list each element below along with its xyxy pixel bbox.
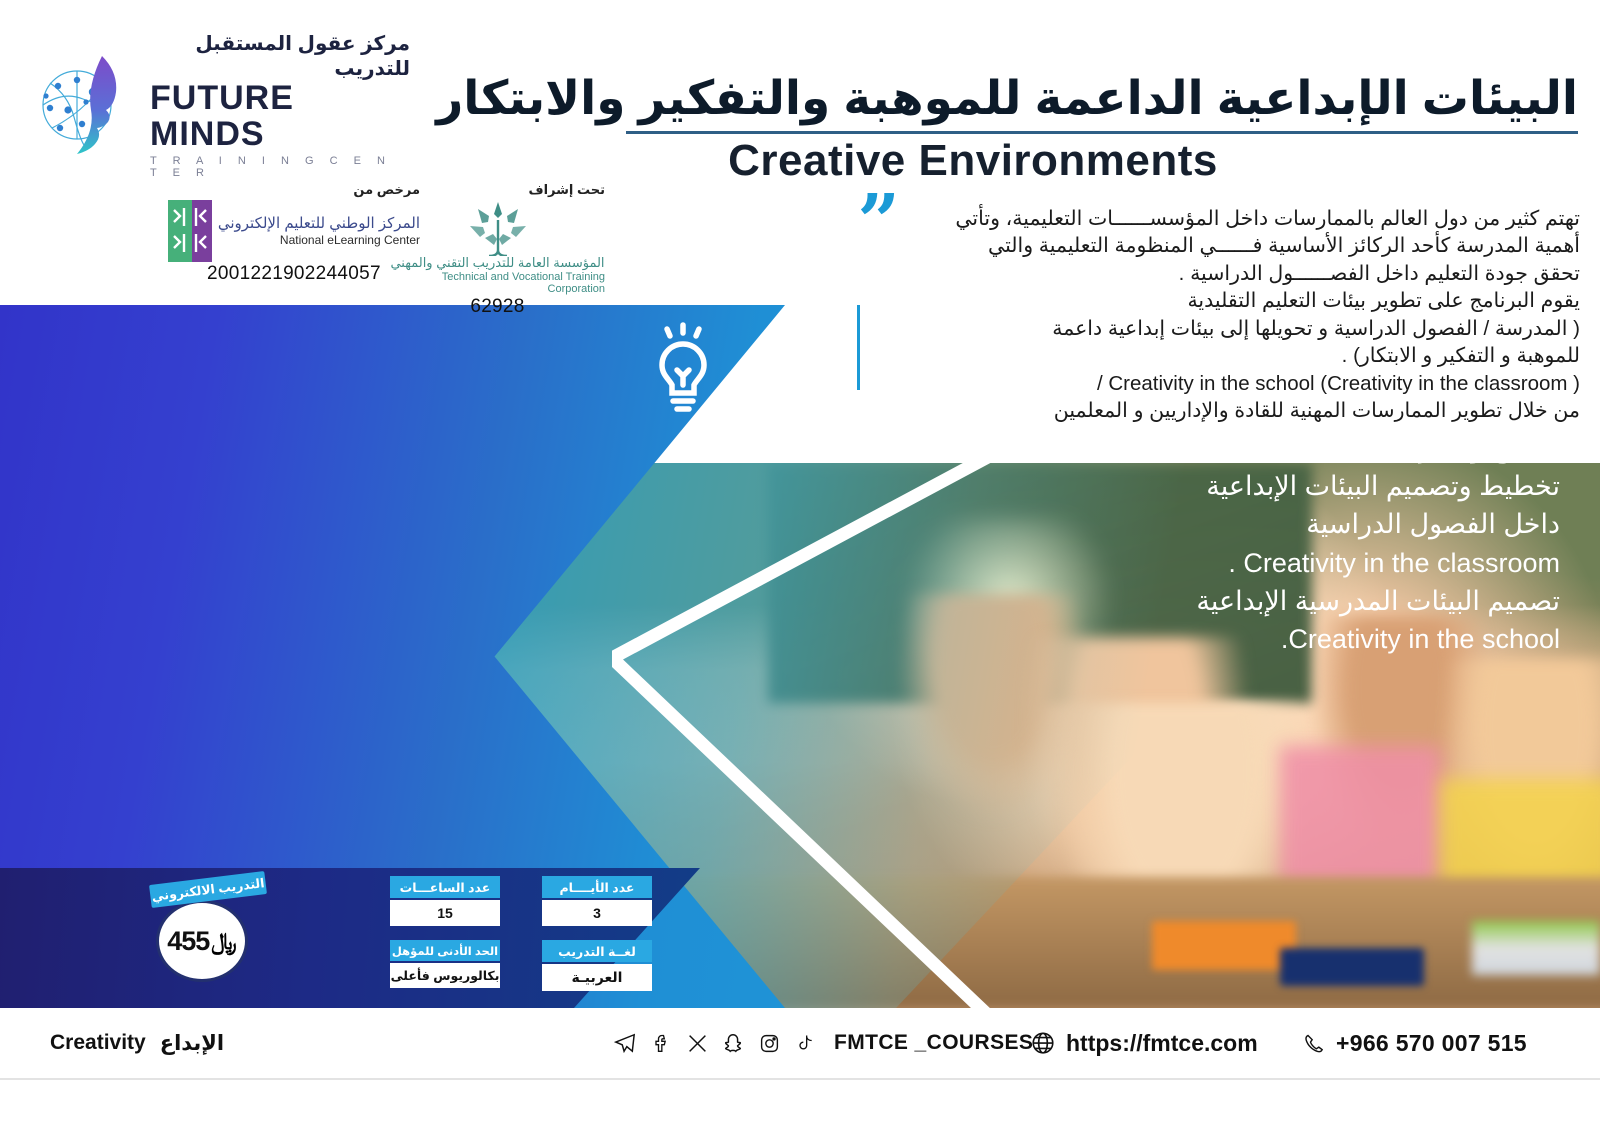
phone-icon xyxy=(1300,1030,1326,1056)
globe-icon xyxy=(1030,1030,1056,1056)
description-line-5: من خلال تطوير الممارسات المهنية للقادة و… xyxy=(940,397,1580,424)
footer-website[interactable]: https://fmtce.com xyxy=(1030,1030,1258,1057)
tvtc-name-en: Technical and Vocational Training Corpor… xyxy=(390,271,605,295)
brand-tagline: T R A I N I N G C E N T E R xyxy=(150,155,410,179)
tiktok-icon[interactable] xyxy=(792,1030,818,1056)
price-badge: ﷼ 455 التدريب الالكتروني xyxy=(148,878,268,990)
x-twitter-icon[interactable] xyxy=(684,1030,710,1056)
lightbulb-icon xyxy=(640,318,726,422)
tvtc-license-number: 62928 xyxy=(470,296,524,318)
description-line-1: يقوم البرنامج على تطوير بيئات التعليم ال… xyxy=(940,287,1580,314)
telegram-icon[interactable] xyxy=(612,1030,638,1056)
badge-hours-value: 15 xyxy=(390,900,500,926)
footer-keyword-en: Creativity xyxy=(50,1031,146,1055)
badge-language: لغــة التدريب العربيـة xyxy=(542,940,652,991)
axes-line-5: . Creativity in the classroom xyxy=(1015,544,1560,582)
badge-hours: عدد الساعـــات 15 xyxy=(390,876,500,926)
price-amount: 455 xyxy=(167,926,209,957)
bottom-strip xyxy=(0,1078,1600,1130)
axes-line-3: تخطيط وتصميم البيئات الإبداعية xyxy=(1015,467,1560,505)
description-paragraph-1: تهتم كثير من دول العالم بالممارسات داخل … xyxy=(940,205,1580,287)
quote-vertical-rule xyxy=(857,305,860,390)
footer-social: FMTCE _COURSES xyxy=(612,1030,1033,1056)
brand-wordmark: مركز عقول المستقبل للتدريب FUTURE MINDS … xyxy=(150,31,410,179)
nelc-license-number: 2001221902244057 xyxy=(207,263,381,285)
axes-line-4: داخل الفصول الدراسية xyxy=(1015,505,1560,543)
footer-keyword: Creativity الإبداع xyxy=(50,1031,224,1056)
future-minds-logo-icon xyxy=(30,50,140,160)
tvtc-logo-icon xyxy=(465,200,531,256)
axes-line-6: تصميم البيئات المدرسية الإبداعية xyxy=(1015,582,1560,620)
social-handle: FMTCE _COURSES xyxy=(834,1031,1033,1055)
badge-qualification-label: الحد الأدنى للمؤهل xyxy=(390,940,500,961)
footer-keyword-ar: الإبداع xyxy=(160,1031,224,1056)
course-info-badges: عدد الأيــــام 3 عدد الساعـــات 15 لغــة… xyxy=(332,876,652,998)
accreditation-tvtc: تحت إشراف المؤسسة العامة للتدريب التقني … xyxy=(390,182,605,318)
price-disc: ﷼ 455 xyxy=(156,900,248,982)
badge-days-value: 3 xyxy=(542,900,652,926)
badge-qualification: الحد الأدنى للمؤهل بكالوريوس فأعلى xyxy=(390,940,500,988)
course-poster: يتضمن البرنامج ثلاث محاور هي : الاتجاهات… xyxy=(0,0,1600,1130)
badge-qualification-value: بكالوريوس فأعلى xyxy=(390,963,500,988)
badge-days-label: عدد الأيــــام xyxy=(542,876,652,898)
course-title-arabic: البيئات الإبداعية الداعمة للموهبة والتفك… xyxy=(398,72,1578,125)
student-shirt xyxy=(1280,746,1440,888)
quote-mark-icon: ” xyxy=(857,200,900,244)
snapchat-icon[interactable] xyxy=(720,1030,746,1056)
phone-number: +966 570 007 515 xyxy=(1336,1030,1527,1057)
description-line-2: ( المدرسة / الفصول الدراسية و تحويلها إل… xyxy=(940,315,1580,342)
book-stack xyxy=(1472,921,1600,976)
riyal-symbol-icon: ﷼ xyxy=(211,928,236,955)
footer-phone[interactable]: +966 570 007 515 xyxy=(1300,1030,1527,1057)
accreditation-nelc: مرخص من المركز الوطني للتعليم الإلكتروني… xyxy=(168,182,420,285)
poster-footer: Creativity الإبداع FMTCE _COURSES xyxy=(0,1008,1600,1078)
course-title-block: البيئات الإبداعية الداعمة للموهبة والتفك… xyxy=(398,72,1578,186)
tvtc-name-ar: المؤسسة العامة للتدريب التقني والمهني xyxy=(390,256,604,271)
description-line-4: / Creativity in the school (Creativity i… xyxy=(940,370,1580,397)
course-title-english: Creative Environments xyxy=(398,136,1578,186)
book-object xyxy=(1152,921,1296,970)
brand-english-name: FUTURE MINDS xyxy=(150,81,410,152)
brand-arabic-name: مركز عقول المستقبل للتدريب xyxy=(150,31,410,81)
course-description: تهتم كثير من دول العالم بالممارسات داخل … xyxy=(940,205,1580,425)
accreditation-row: مرخص من المركز الوطني للتعليم الإلكتروني… xyxy=(20,182,600,302)
axes-line-7: .Creativity in the school xyxy=(1015,620,1560,658)
nelc-seal-icon xyxy=(168,200,212,262)
axes-line-2: الابداع و نظرياته. xyxy=(1015,429,1560,467)
instagram-icon[interactable] xyxy=(756,1030,782,1056)
badge-language-label: لغــة التدريب xyxy=(542,940,652,962)
description-line-3: للموهبة و التفكير و الابتكار) . xyxy=(940,342,1580,369)
badge-hours-label: عدد الساعـــات xyxy=(390,876,500,898)
website-url: https://fmtce.com xyxy=(1066,1030,1258,1057)
badge-days: عدد الأيــــام 3 xyxy=(542,876,652,926)
brand-logo: مركز عقول المستقبل للتدريب FUTURE MINDS … xyxy=(30,45,410,165)
title-divider xyxy=(626,131,1578,134)
book-object xyxy=(1280,948,1424,986)
badge-language-value: العربيـة xyxy=(542,964,652,991)
facebook-icon[interactable] xyxy=(648,1030,674,1056)
footer-divider xyxy=(0,1078,1600,1080)
